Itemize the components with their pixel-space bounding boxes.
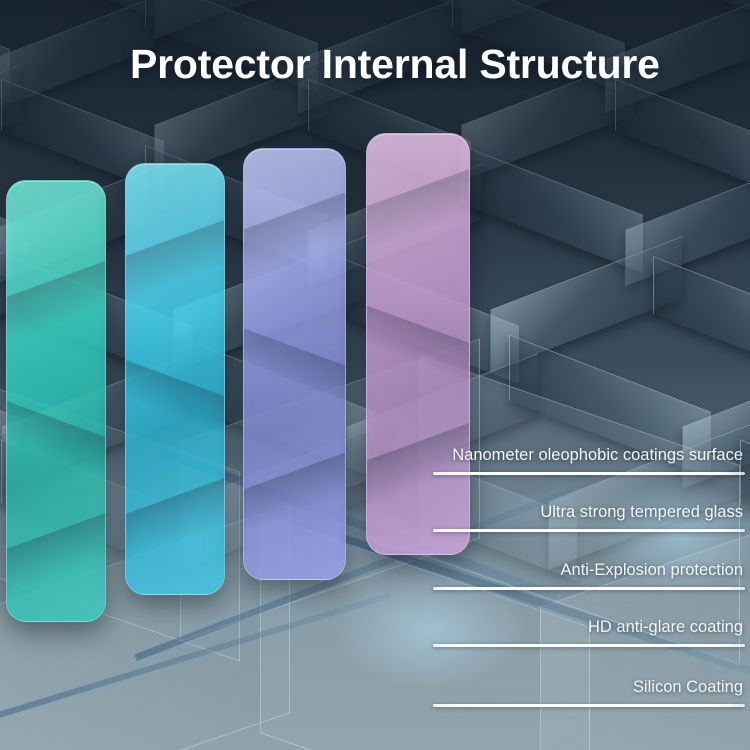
product-infographic: Protector Internal Structure Nanometer o… [0,0,750,750]
layer-panel-1-silicon-coating[interactable] [6,180,106,622]
callout-hd-anti-glare-coating: HD anti-glare coating [433,618,745,647]
callout-leader-line [433,529,745,532]
callout-label: Nanometer oleophobic coatings surface [433,446,745,472]
callout-label: HD anti-glare coating [433,618,745,644]
callout-label: Silicon Coating [433,678,745,704]
callout-ultra-strong-tempered-glass: Ultra strong tempered glass [433,503,745,532]
page-title: Protector Internal Structure [130,41,660,88]
callout-leader-line [433,704,745,707]
callout-leader-line [433,644,745,647]
callout-label: Anti-Explosion protection [433,561,745,587]
layer-panel-3-anti-explosion[interactable] [243,148,346,580]
callout-label: Ultra strong tempered glass [433,503,745,529]
callout-silicon-coating: Silicon Coating [433,678,745,707]
layer-panel-2-hd-anti-glare[interactable] [125,163,225,595]
callout-leader-line [433,587,745,590]
callout-leader-line [433,472,745,475]
callout-nanometer-oleophobic: Nanometer oleophobic coatings surface [433,446,745,475]
layer-panel-4-tempered-glass[interactable] [366,133,470,555]
callout-anti-explosion-protection: Anti-Explosion protection [433,561,745,590]
